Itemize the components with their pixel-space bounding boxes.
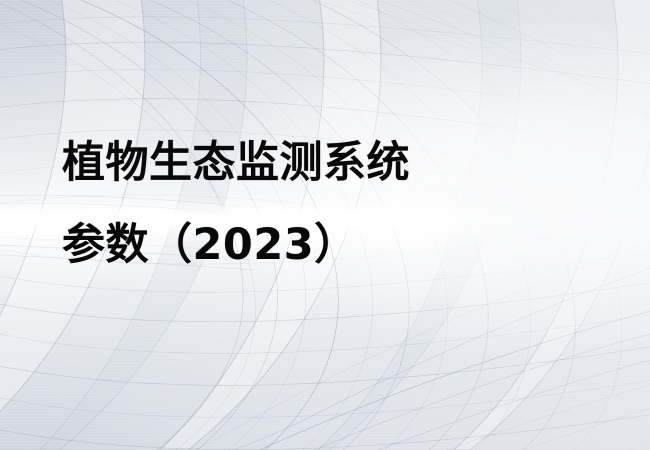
title-slide: 植物生态监测系统 参数（2023） xyxy=(0,0,650,450)
title-line-1: 植物生态监测系统 xyxy=(62,122,582,204)
title-line-2: 参数（2023） xyxy=(62,204,582,286)
page-title: 植物生态监测系统 参数（2023） xyxy=(62,122,582,286)
